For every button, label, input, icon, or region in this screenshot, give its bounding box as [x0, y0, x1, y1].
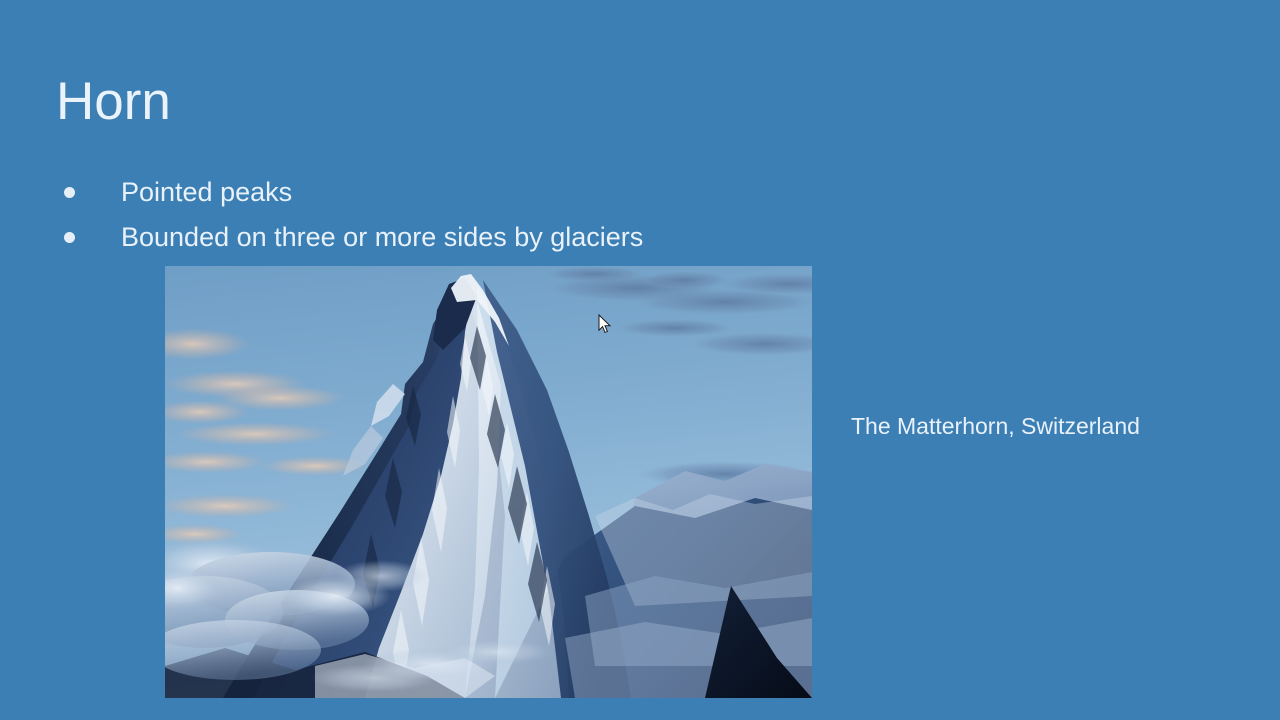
bullet-point-icon: [64, 187, 75, 198]
presentation-slide: Horn Pointed peaks Bounded on three or m…: [0, 0, 1280, 720]
photo-caption: The Matterhorn, Switzerland: [851, 412, 1140, 440]
list-item: Pointed peaks: [64, 176, 884, 209]
matterhorn-illustration: [165, 266, 812, 698]
list-item-label: Pointed peaks: [121, 176, 292, 209]
page-title: Horn: [56, 74, 171, 130]
list-item-label: Bounded on three or more sides by glacie…: [121, 221, 643, 254]
bullet-point-icon: [64, 232, 75, 243]
matterhorn-photo: [165, 266, 812, 698]
bullet-list: Pointed peaks Bounded on three or more s…: [64, 176, 884, 266]
list-item: Bounded on three or more sides by glacie…: [64, 221, 884, 254]
